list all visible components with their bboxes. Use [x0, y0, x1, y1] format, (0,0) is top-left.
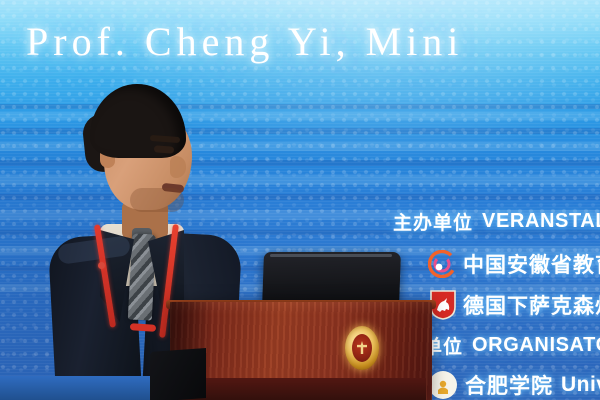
sponsor-label-cn: 主办单位: [393, 208, 473, 235]
sponsor-label-en: Unive: [561, 373, 600, 397]
sponsor-label-en: VERANSTALT: [482, 210, 600, 233]
lapel-pin: [98, 262, 105, 269]
sponsor-row-veranstalter: 主办单位 VERANSTALT: [393, 208, 600, 235]
white-gold-circle-icon: [428, 370, 458, 400]
sponsor-label-en: ORGANISATO: [472, 334, 600, 357]
dark-foreground-object: [150, 348, 206, 400]
sponsor-row-hefei-university: 合肥学院 Unive: [428, 370, 600, 400]
eye: [154, 145, 174, 153]
orange-swirl-e-icon: [428, 250, 456, 278]
floor-strip: [0, 376, 160, 400]
sponsor-label-cn: 中国安徽省教育厅: [463, 249, 600, 279]
sponsor-label-cn: 合肥学院: [465, 370, 553, 400]
photo-stage: Prof. Cheng Yi, Mini 主办单位 VERANSTALT 中国安…: [0, 0, 600, 400]
sponsor-row-anhui-education: 中国安徽省教育厅: [428, 249, 600, 279]
jaw-shadow: [130, 188, 184, 212]
headline-text: Prof. Cheng Yi, Mini: [26, 22, 463, 62]
sponsor-row-organisator: 单位 ORGANISATO: [423, 332, 600, 359]
laptop-screen-edge: [270, 254, 392, 257]
podium-base: [176, 378, 426, 400]
sponsor-row-lower-saxony: 德国下萨克森州: [430, 290, 600, 320]
sponsor-label-cn: 德国下萨克森州: [463, 290, 600, 320]
